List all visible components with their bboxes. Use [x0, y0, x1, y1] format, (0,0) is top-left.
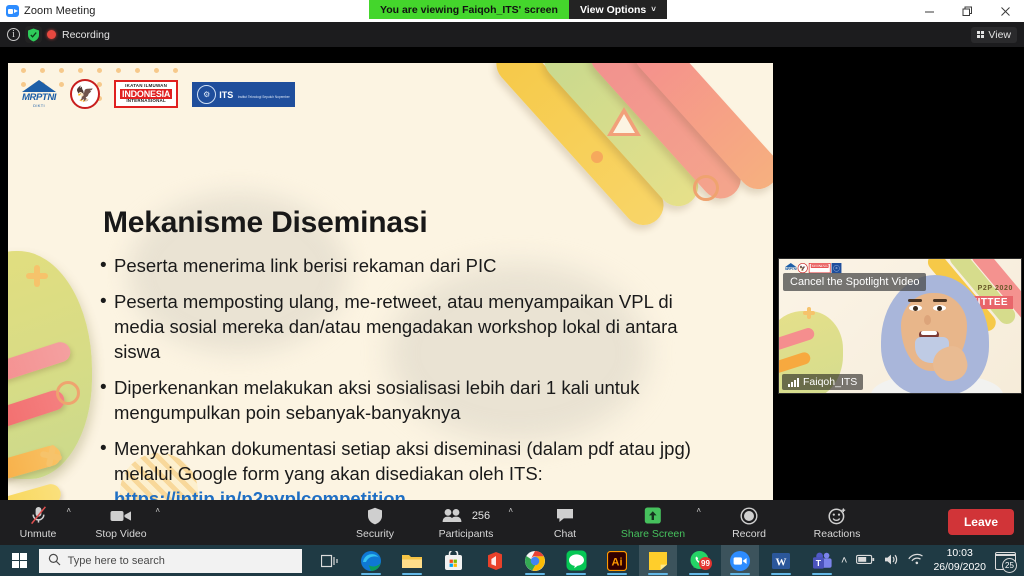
minimize-button[interactable] [910, 0, 948, 22]
chevron-down-icon: ˅ [651, 6, 656, 14]
bullet-icon: • [100, 436, 114, 500]
leave-meeting-button[interactable]: Leave [948, 509, 1014, 535]
thumbnail-logo-mrptni-label: MRPTNI [785, 267, 797, 270]
battery-icon[interactable] [856, 554, 875, 568]
dot-decoration-top [591, 151, 603, 163]
list-item: • Peserta menerima link berisi rekaman d… [100, 253, 725, 278]
share-screen-label: Share Screen [621, 528, 685, 540]
audio-signal-icon [788, 378, 799, 387]
microsoft-office-icon[interactable] [475, 545, 513, 576]
bullet-text-body: Menyerahkan dokumentasi setiap aksi dise… [114, 438, 691, 484]
participant-video-person [875, 275, 995, 394]
taskbar-clock[interactable]: 10:03 26/09/2020 [933, 547, 986, 573]
list-item: • Menyerahkan dokumentasi setiap aksi di… [100, 436, 725, 500]
thumbnail-logo-i4: INDONESIA [809, 263, 831, 273]
garuda-bird-icon: 🦅 [76, 87, 95, 102]
bullet-icon: • [100, 375, 114, 425]
file-explorer-icon[interactable] [393, 545, 431, 576]
logo-i4-line3: INTERNASIONAL [126, 99, 166, 104]
plus-decoration-top [26, 265, 48, 287]
view-layout-button[interactable]: View [971, 27, 1017, 43]
list-item: • Peserta memposting ulang, me-retweet, … [100, 289, 725, 364]
video-camera-icon [110, 506, 132, 526]
close-icon[interactable] [986, 0, 1024, 22]
svg-text:W: W [776, 556, 787, 568]
security-label: Security [356, 528, 394, 540]
ring-decoration-top [693, 175, 719, 201]
whatsapp-unread-badge: 99 [699, 557, 712, 570]
window-title: Zoom Meeting [24, 5, 96, 17]
zoom-taskbar-icon[interactable] [721, 545, 759, 576]
windows-taskbar: Type here to search [0, 545, 1024, 576]
viewing-screen-banner: You are viewing Faiqoh_ITS' screen [369, 0, 569, 19]
microsoft-teams-icon[interactable]: T [803, 545, 841, 576]
submission-link[interactable]: https://intip.in/p2pvplcompetition [114, 486, 725, 500]
thumbnail-logo-its: ⚙ [832, 263, 842, 273]
bullet-text: Peserta menerima link berisi rekaman dar… [114, 253, 496, 278]
plus-decoration-mid [38, 443, 64, 469]
svg-text:T: T [815, 558, 821, 568]
share-options-chevron-icon[interactable]: ˄ [696, 506, 701, 515]
thumbnail-logo-i4-label: INDONESIA [811, 264, 829, 268]
participants-label: Participants [439, 528, 494, 540]
list-item: • Diperkenankan melakukan aksi sosialisa… [100, 375, 725, 425]
recording-indicator-icon [47, 30, 56, 39]
maximize-restore-icon[interactable] [948, 0, 986, 22]
bullet-icon: • [100, 253, 114, 278]
google-chrome-icon[interactable] [516, 545, 554, 576]
logo-its-sub: Institut Teknologi Sepuluh Nopember [238, 95, 290, 99]
whatsapp-icon[interactable]: 99 [680, 545, 718, 576]
share-screen-button[interactable]: Share Screen ˄ [617, 500, 689, 545]
start-button[interactable] [0, 545, 39, 576]
encryption-shield-icon[interactable] [25, 26, 42, 43]
slide-bullet-list: • Peserta menerima link berisi rekaman d… [100, 253, 725, 500]
thumbnail-logo-garuda: 🦅 [798, 263, 808, 273]
participants-button[interactable]: 256 Participants ˄ [435, 500, 497, 545]
logo-mrptni-label: MRPTNI [22, 93, 56, 103]
notifications-icon[interactable]: 25 [995, 552, 1016, 570]
search-placeholder-text: Type here to search [68, 555, 165, 567]
windows-logo-icon [12, 553, 28, 569]
its-seal-icon: ⚙ [833, 265, 839, 271]
thumbnail-plus-decoration [803, 307, 815, 319]
person-nose [924, 315, 931, 325]
video-options-chevron-icon[interactable]: ˄ [155, 506, 160, 515]
logo-mrptni: MRPTNI DIKTI [22, 80, 56, 108]
chat-button[interactable]: Chat [545, 500, 585, 545]
audio-options-chevron-icon[interactable]: ˄ [66, 506, 71, 515]
titlebar-left: Zoom Meeting [0, 5, 96, 17]
spotlight-tooltip: Cancel the Spotlight Video [783, 273, 926, 291]
chat-bubble-icon [556, 506, 574, 526]
logo-garuda: 🦅 [70, 79, 100, 109]
meeting-info-icon[interactable]: i [7, 28, 20, 41]
bullet-text: Menyerahkan dokumentasi setiap aksi dise… [114, 436, 725, 500]
search-input[interactable]: Type here to search [39, 549, 302, 573]
view-options-button[interactable]: View Options ˅ [569, 0, 667, 19]
line-icon[interactable] [557, 545, 595, 576]
thumbnail-logo-mrptni: MRPTNI [785, 263, 797, 273]
reactions-button[interactable]: Reactions [807, 500, 867, 545]
ring-decoration-left [56, 381, 80, 405]
reactions-smiley-icon [828, 506, 847, 526]
notification-count-badge: 25 [1002, 558, 1017, 573]
view-options-label: View Options [580, 4, 646, 16]
participants-count: 256 [472, 510, 490, 522]
record-button[interactable]: Record [725, 500, 773, 545]
view-button-label: View [988, 29, 1011, 41]
task-view-icon[interactable] [311, 545, 349, 576]
clock-time: 10:03 [933, 547, 986, 560]
window-controls [910, 0, 1024, 22]
person-eye-left [909, 305, 922, 311]
triangle-decoration-top [607, 107, 641, 136]
zoom-logo-icon [6, 5, 19, 17]
microphone-muted-icon [30, 506, 47, 526]
record-label: Record [732, 528, 766, 540]
meeting-info-bar: i Recording View [0, 22, 1024, 47]
bullet-text: Diperkenankan melakukan aksi sosialisasi… [114, 375, 725, 425]
logo-its: ⚙ ITS Institut Teknologi Sepuluh Nopembe… [192, 82, 295, 107]
volume-icon[interactable] [884, 553, 899, 569]
mrptni-roof-icon [22, 80, 56, 92]
corner-bars-decoration [473, 63, 773, 249]
unmute-button[interactable]: Unmute ˄ [16, 500, 60, 545]
presentation-slide: MRPTNI DIKTI 🦅 IKATAN ILMUWAN INDONESIA … [8, 63, 773, 500]
chat-label: Chat [554, 528, 576, 540]
sticky-notes-icon[interactable] [639, 545, 677, 576]
video-thumbnail-panel[interactable]: MRPTNI 🦅 INDONESIA ⚙ P2P 2020 MITTEE [778, 258, 1022, 394]
bullet-icon: • [100, 289, 114, 364]
microsoft-word-icon[interactable]: W [762, 545, 800, 576]
screen-share-indicator: You are viewing Faiqoh_ITS' screen View … [369, 0, 667, 19]
logo-mrptni-sub: DIKTI [33, 103, 45, 108]
clock-date: 26/09/2020 [933, 561, 986, 574]
participants-icon: 256 [442, 506, 490, 526]
shared-screen-stage: MRPTNI DIKTI 🦅 IKATAN ILMUWAN INDONESIA … [0, 47, 1024, 500]
recording-label: Recording [62, 29, 110, 41]
zoom-meeting-window: Zoom Meeting You are viewing Faiqoh_ITS'… [0, 0, 1024, 576]
tray-expand-chevron-icon[interactable]: ˄ [841, 555, 847, 567]
logo-i4: IKATAN ILMUWAN INDONESIA INTERNASIONAL [114, 80, 178, 108]
stop-video-button[interactable]: Stop Video ˄ [93, 500, 149, 545]
wifi-icon[interactable] [908, 553, 924, 568]
person-brow-left [908, 299, 922, 302]
security-button[interactable]: Security [349, 500, 401, 545]
microsoft-edge-icon[interactable] [352, 545, 390, 576]
logo-its-label: ITS [219, 90, 233, 100]
participants-chevron-icon[interactable]: ˄ [508, 506, 513, 515]
its-seal-icon: ⚙ [197, 85, 216, 104]
adobe-illustrator-icon[interactable]: Ai [598, 545, 636, 576]
garuda-bird-icon: 🦅 [800, 266, 806, 271]
system-tray: ˄ [841, 547, 1024, 573]
shield-icon [367, 506, 383, 526]
participant-name-tag: Faiqoh_ITS [782, 374, 863, 390]
search-icon [48, 553, 61, 569]
pill-bar-yellow [8, 482, 63, 500]
reactions-label: Reactions [814, 528, 861, 540]
zoom-controls-toolbar: Unmute ˄ Stop Video ˄ Security [0, 500, 1024, 545]
unmute-label: Unmute [20, 528, 57, 540]
slide-title: Mekanisme Diseminasi [103, 206, 428, 240]
participant-name-label: Faiqoh_ITS [803, 376, 857, 388]
stop-video-label: Stop Video [95, 528, 146, 540]
person-eye-right [933, 305, 946, 311]
window-titlebar: Zoom Meeting You are viewing Faiqoh_ITS'… [0, 0, 1024, 22]
bullet-text: Peserta memposting ulang, me-retweet, at… [114, 289, 725, 364]
taskbar-app-icons: Ai 99 [311, 545, 841, 576]
slide-logo-row: MRPTNI DIKTI 🦅 IKATAN ILMUWAN INDONESIA … [22, 79, 295, 109]
share-screen-icon [643, 506, 663, 526]
microsoft-store-icon[interactable] [434, 545, 472, 576]
svg-text:Ai: Ai [612, 556, 623, 568]
thumbnail-slide-logos: MRPTNI 🦅 INDONESIA ⚙ [785, 263, 842, 273]
grid-view-icon [977, 31, 985, 39]
record-icon [740, 506, 758, 526]
person-brow-right [933, 299, 947, 302]
